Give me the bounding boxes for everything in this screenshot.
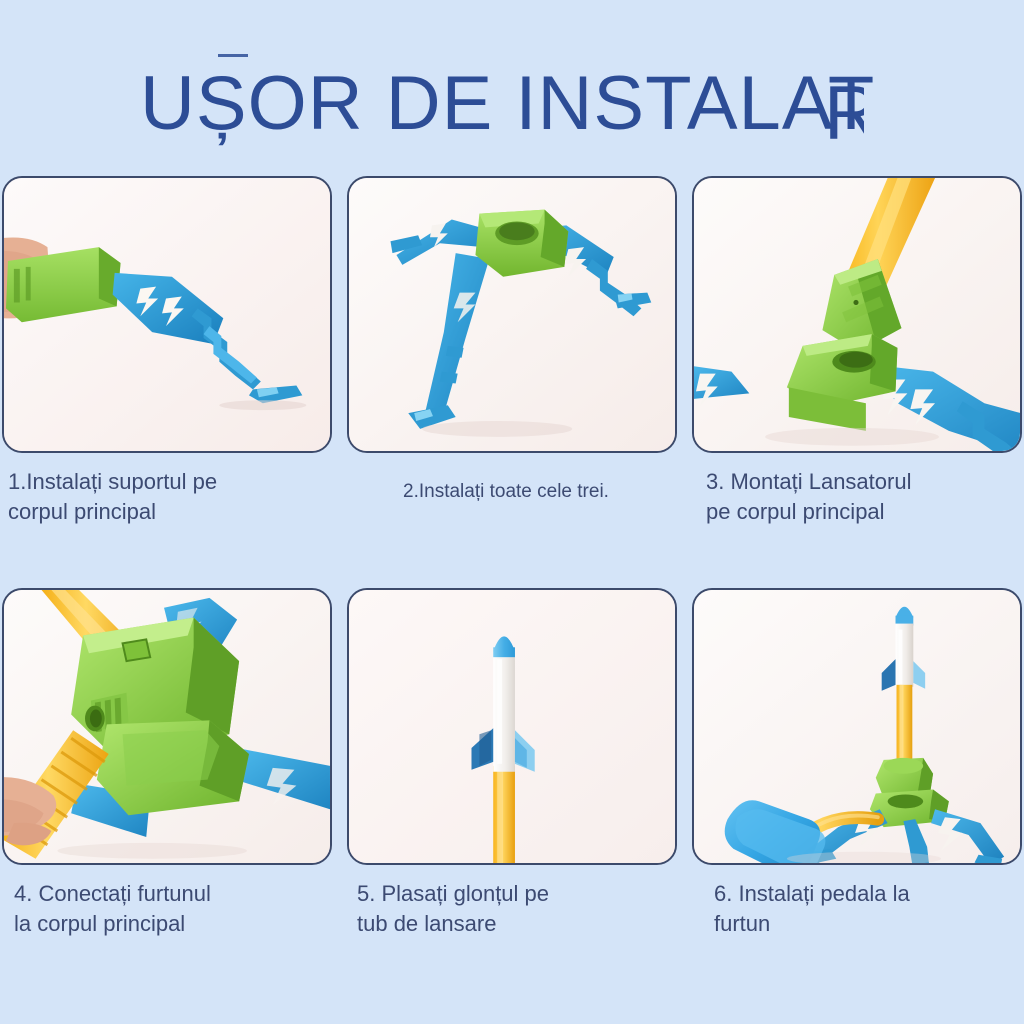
step-cell-1: 1.Instalați suportul pe corpul principal xyxy=(2,176,334,527)
step-caption-3: 3. Montați Lansatorul pe corpul principa… xyxy=(692,467,1024,527)
step-cell-2: 2.Instalați toate cele trei. xyxy=(347,176,679,505)
step-photo-1 xyxy=(2,176,332,453)
steps-grid: 1.Instalați suportul pe corpul principal xyxy=(0,176,1024,1000)
illustration-rocket-on-tube xyxy=(349,590,675,864)
step-cell-5: 5. Plasați glonțul pe tub de lansare xyxy=(347,588,679,939)
step-caption-4: 4. Conectați furtunul la corpul principa… xyxy=(2,879,334,939)
step-photo-3 xyxy=(692,176,1022,453)
step-cell-3: 3. Montați Lansatorul pe corpul principa… xyxy=(692,176,1024,527)
page-title-cutoff-glyph: R xyxy=(824,72,864,156)
step-photo-4 xyxy=(2,588,332,865)
illustration-connect-hose xyxy=(4,590,330,864)
illustration-assembled-tripod xyxy=(349,178,675,452)
illustration-launcher-head-mount xyxy=(694,178,1020,452)
steps-row-1: 1.Instalați suportul pe corpul principal xyxy=(0,176,1024,588)
step-photo-5 xyxy=(347,588,677,865)
page-title: UȘOR DE INSTALAT xyxy=(140,62,875,146)
step-caption-1: 1.Instalați suportul pe corpul principal xyxy=(2,467,334,527)
illustration-hand-holding-clamp xyxy=(4,178,330,452)
title-macron-mark xyxy=(218,54,248,57)
step-cell-6: 6. Instalați pedala la furtun xyxy=(692,588,1024,939)
page-title-area: UȘOR DE INSTALAT R xyxy=(0,46,1024,156)
product-instruction-page: UȘOR DE INSTALAT R xyxy=(0,0,1024,1024)
step-caption-5: 5. Plasați glonțul pe tub de lansare xyxy=(347,879,679,939)
step-caption-2: 2.Instalați toate cele trei. xyxy=(347,467,679,505)
step-photo-6 xyxy=(692,588,1022,865)
steps-row-2: 4. Conectați furtunul la corpul principa… xyxy=(0,588,1024,1000)
step-cell-4: 4. Conectați furtunul la corpul principa… xyxy=(2,588,334,939)
step-caption-6: 6. Instalați pedala la furtun xyxy=(692,879,1024,939)
illustration-complete-launcher-with-pedal xyxy=(694,590,1020,864)
step-photo-2 xyxy=(347,176,677,453)
